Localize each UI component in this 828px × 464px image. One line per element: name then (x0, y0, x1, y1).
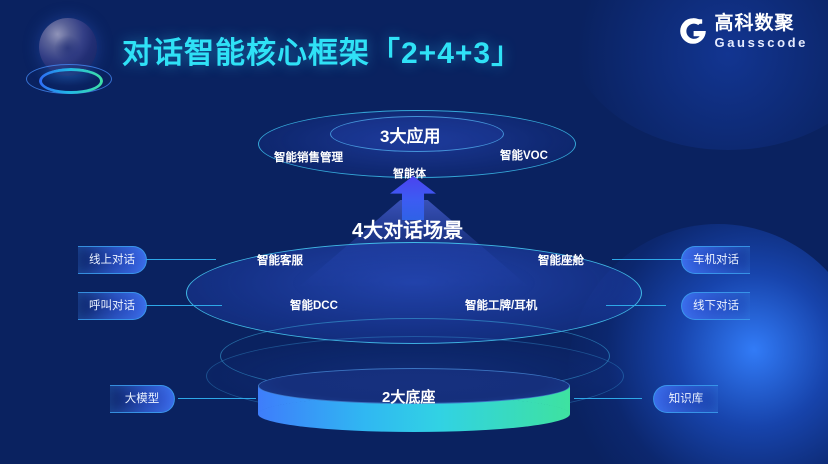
scenes-item-customer-service: 智能客服 (257, 252, 303, 268)
brand-name-en: Gausscode (715, 36, 809, 49)
apps-item-sales: 智能销售管理 (274, 149, 343, 165)
pill-online-dialogue[interactable]: 线上对话 (78, 246, 147, 274)
brand-text: 高科数聚 Gausscode (715, 14, 809, 49)
sphere-inner-ring (39, 68, 103, 94)
base-center-label: 2大底座 (382, 386, 435, 407)
page-title: 对话智能核心框架「2+4+3」 (122, 28, 522, 72)
apps-center-label: 3大应用 (380, 122, 440, 147)
pill-knowledge-base[interactable]: 知识库 (653, 385, 718, 413)
brand-name-cn: 高科数聚 (715, 14, 809, 33)
scenes-item-badge-headset: 智能工牌/耳机 (465, 297, 537, 313)
apps-item-agent: 智能体 (393, 165, 426, 181)
apps-item-voc: 智能VOC (500, 147, 548, 163)
scenes-center-label: 4大对话场景 (352, 214, 463, 243)
scenes-item-cockpit: 智能座舱 (538, 252, 584, 268)
pill-large-model[interactable]: 大模型 (110, 385, 175, 413)
brand-logo: 高科数聚 Gausscode (678, 14, 809, 49)
connector-line-left-top (144, 259, 216, 260)
slide-canvas: 对话智能核心框架「2+4+3」 高科数聚 Gausscode 3大应用 智能销售… (0, 0, 828, 464)
scenes-item-dcc: 智能DCC (290, 297, 338, 313)
pill-invehicle-dialogue[interactable]: 车机对话 (681, 246, 750, 274)
pill-call-dialogue[interactable]: 呼叫对话 (78, 292, 147, 320)
connector-line-base-left (178, 398, 256, 399)
connector-line-base-right (574, 398, 642, 399)
connector-line-right-bottom (606, 305, 666, 306)
connector-line-left-bottom (144, 305, 222, 306)
gausscode-g-mark-icon (678, 16, 708, 46)
sphere-orb-icon (22, 12, 114, 104)
pill-offline-dialogue[interactable]: 线下对话 (681, 292, 750, 320)
